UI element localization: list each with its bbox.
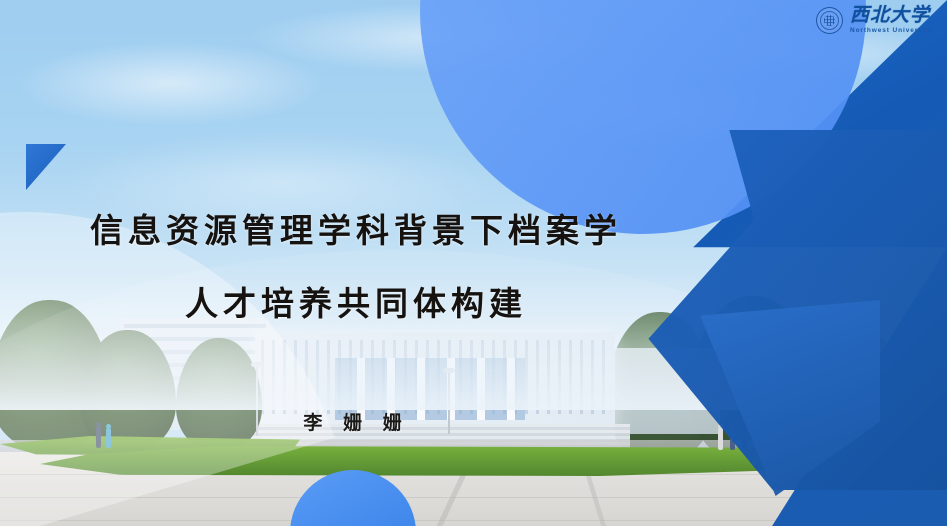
person (718, 428, 723, 450)
title-slide: 西北大学 Northwest University 信息资源管理学科背景下档案学… (0, 0, 947, 526)
title-line-1: 信息资源管理学科背景下档案学 (0, 214, 712, 247)
university-name-cn: 西北大学 (850, 6, 933, 25)
university-logo-text: 西北大学 Northwest University (850, 6, 933, 35)
author-name: 李 姗 姗 (0, 408, 712, 435)
university-logo: 西北大学 Northwest University (816, 6, 933, 35)
title-line-2: 人才培养共同体构建 (0, 287, 712, 320)
university-name-en: Northwest University (850, 28, 933, 35)
university-seal-icon (816, 7, 843, 34)
slide-title: 信息资源管理学科背景下档案学 人才培养共同体构建 (0, 214, 712, 320)
